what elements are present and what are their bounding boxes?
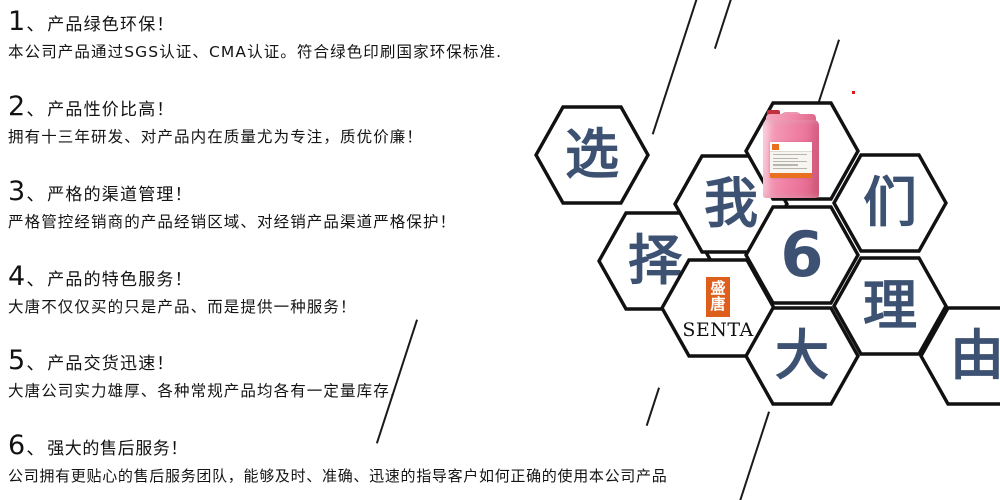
bottle-label-logo-icon — [772, 144, 779, 150]
reason-item-4: 4 、 产品的特色服务！ 大唐不仅仅买的只是产品、而是提供一种服务！ — [8, 263, 357, 316]
reason-description: 大唐公司实力雄厚、各种常规产品均各有一定量库存. — [8, 383, 396, 400]
reason-title: 产品的特色服务！ — [47, 272, 193, 289]
reason-description: 拥有十三年研发、对产品内在质量尤为专注，质优价廉！ — [8, 129, 423, 146]
bottle-label-header — [770, 142, 812, 152]
reason-heading: 3 、 严格的渠道管理！ — [8, 178, 456, 205]
bottle-label-text-line — [773, 168, 807, 169]
reason-item-3: 3 、 严格的渠道管理！ 严格管控经销商的产品经销区域、对经销产品渠道严格保护！ — [8, 178, 456, 231]
reason-item-1: 1 、 产品绿色环保！ 本公司产品通过SGS认证、CMA认证。符合绿色印刷国家环… — [8, 8, 502, 61]
reason-number: 1 — [8, 8, 25, 35]
reason-heading: 2 、 产品性价比高！ — [8, 93, 423, 120]
reason-item-5: 5 、 产品交货迅速！ 大唐公司实力雄厚、各种常规产品均各有一定量库存. — [8, 347, 396, 400]
brand-name: SENTA — [682, 321, 753, 340]
bottle-label-text-line — [773, 154, 807, 155]
bottle-label-text-line — [773, 164, 798, 165]
diagonal-line-5 — [738, 412, 770, 500]
hexagon-you[interactable]: 由 — [919, 306, 1000, 406]
reason-description: 大唐不仅仅买的只是产品、而是提供一种服务！ — [8, 299, 357, 316]
bottle-label — [770, 142, 812, 178]
product-bottle-image[interactable] — [763, 110, 819, 198]
reason-separator: 、 — [26, 354, 45, 373]
hexagon-label: 由 — [919, 306, 1000, 406]
reason-separator: 、 — [26, 185, 45, 204]
hexagon-men[interactable]: 们 — [832, 153, 948, 253]
red-speck-mark — [852, 91, 855, 94]
diagonal-line-3 — [817, 40, 840, 107]
reason-description: 本公司产品通过SGS认证、CMA认证。符合绿色印刷国家环保标准. — [8, 44, 502, 61]
reason-item-6: 6 、 强大的售后服务！ 公司拥有更贴心的售后服务团队，能够及时、准确、迅速的指… — [8, 432, 667, 485]
bottle-label-text-line — [773, 161, 807, 162]
reason-separator: 、 — [26, 270, 45, 289]
reason-title: 产品交货迅速！ — [47, 356, 174, 373]
reason-title: 产品性价比高！ — [47, 102, 174, 119]
reason-separator: 、 — [26, 15, 45, 34]
diagonal-line-2 — [714, 0, 735, 49]
reason-separator: 、 — [26, 439, 45, 458]
reason-heading: 6 、 强大的售后服务！ — [8, 432, 667, 459]
reason-number: 3 — [8, 178, 25, 205]
hexagon-label: 们 — [832, 153, 948, 253]
reason-separator: 、 — [26, 100, 45, 119]
reason-heading: 1 、 产品绿色环保！ — [8, 8, 502, 35]
reason-title: 严格的渠道管理！ — [47, 187, 193, 204]
hexagon-label: 选 — [534, 105, 650, 205]
reason-heading: 4 、 产品的特色服务！ — [8, 263, 357, 290]
reason-description: 公司拥有更贴心的售后服务团队，能够及时、准确、迅速的指导客户如何正确的使用本公司… — [8, 468, 667, 485]
reason-number: 5 — [8, 347, 25, 374]
bottle-label-footer-bar — [770, 173, 812, 178]
reason-number: 4 — [8, 263, 25, 290]
reason-title: 产品绿色环保！ — [47, 17, 174, 34]
reason-heading: 5 、 产品交货迅速！ — [8, 347, 396, 374]
reason-description: 严格管控经销商的产品经销区域、对经销产品渠道严格保护！ — [8, 214, 456, 231]
reason-title: 强大的售后服务！ — [47, 441, 188, 458]
reason-list: 1 、 产品绿色环保！ 本公司产品通过SGS认证、CMA认证。符合绿色印刷国家环… — [0, 0, 690, 500]
brand-seal-char-bottom: 唐 — [710, 297, 725, 313]
promo-graphic-canvas: 1 、 产品绿色环保！ 本公司产品通过SGS认证、CMA认证。符合绿色印刷国家环… — [0, 0, 1000, 500]
reason-number: 6 — [8, 432, 25, 459]
bottle-label-text-line — [773, 158, 798, 159]
brand-seal-icon: 盛 唐 — [706, 277, 730, 317]
hexagon-xuan[interactable]: 选 — [534, 105, 650, 205]
reason-number: 2 — [8, 93, 25, 120]
reason-item-2: 2 、 产品性价比高！ 拥有十三年研发、对产品内在质量尤为专注，质优价廉！ — [8, 93, 423, 146]
